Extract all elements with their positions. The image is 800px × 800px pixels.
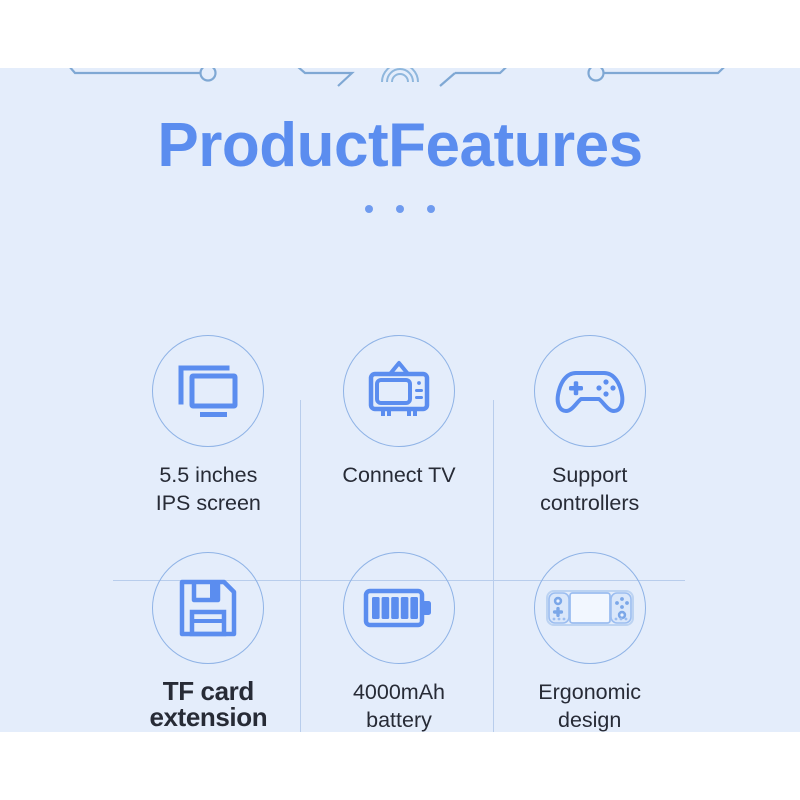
feature-label-line2: controllers — [540, 489, 639, 517]
feature-label: 4000mAh battery — [353, 678, 445, 732]
feature-item-ergonomic-design: Ergonomic design — [494, 549, 685, 732]
feature-label-line2: IPS screen — [156, 489, 261, 517]
television-icon — [366, 360, 432, 422]
feature-item-tf-card: TF card extension — [113, 549, 304, 732]
icon-circle — [152, 552, 264, 664]
feature-label-line1: Ergonomic — [538, 678, 641, 706]
icon-circle — [343, 552, 455, 664]
feature-label: Support controllers — [540, 461, 639, 518]
handheld-console-icon — [545, 585, 635, 631]
feature-label-line1: 5.5 inches — [156, 461, 261, 489]
decorative-dots — [0, 205, 800, 213]
feature-item-support-controllers: Support controllers — [494, 332, 685, 549]
feature-item-battery: 4000mAh battery — [304, 549, 495, 732]
icon-circle — [343, 335, 455, 447]
feature-label-line1: TF card — [149, 678, 267, 704]
icon-circle — [152, 335, 264, 447]
monitor-screen-icon — [175, 362, 241, 420]
feature-label: Ergonomic design — [538, 678, 641, 732]
battery-icon — [363, 586, 435, 630]
feature-label-line2: battery — [353, 706, 445, 732]
floppy-disk-icon — [178, 578, 238, 638]
dot-icon — [396, 205, 404, 213]
gamepad-icon — [554, 365, 626, 417]
feature-label-line2: extension — [149, 704, 267, 730]
feature-label: 5.5 inches IPS screen — [156, 461, 261, 518]
product-features-page: ProductFeatures 5.5 inches — [0, 0, 800, 800]
feature-item-connect-tv: Connect TV — [304, 332, 495, 549]
dot-icon — [427, 205, 435, 213]
dot-icon — [365, 205, 373, 213]
page-title: ProductFeatures — [0, 115, 800, 177]
feature-item-ips-screen: 5.5 inches IPS screen — [113, 332, 304, 549]
feature-grid: 5.5 inches IPS screen — [113, 332, 685, 732]
feature-label-line2: design — [538, 706, 641, 732]
feature-label: TF card extension — [149, 678, 267, 730]
icon-circle — [534, 552, 646, 664]
icon-circle — [534, 335, 646, 447]
feature-label-line1: 4000mAh — [353, 678, 445, 706]
content-panel: ProductFeatures 5.5 inches — [0, 68, 800, 732]
feature-label-line1: Connect TV — [342, 461, 455, 489]
feature-label: Connect TV — [342, 461, 455, 489]
feature-label-line1: Support — [540, 461, 639, 489]
circuit-decoration-icon — [0, 68, 800, 100]
